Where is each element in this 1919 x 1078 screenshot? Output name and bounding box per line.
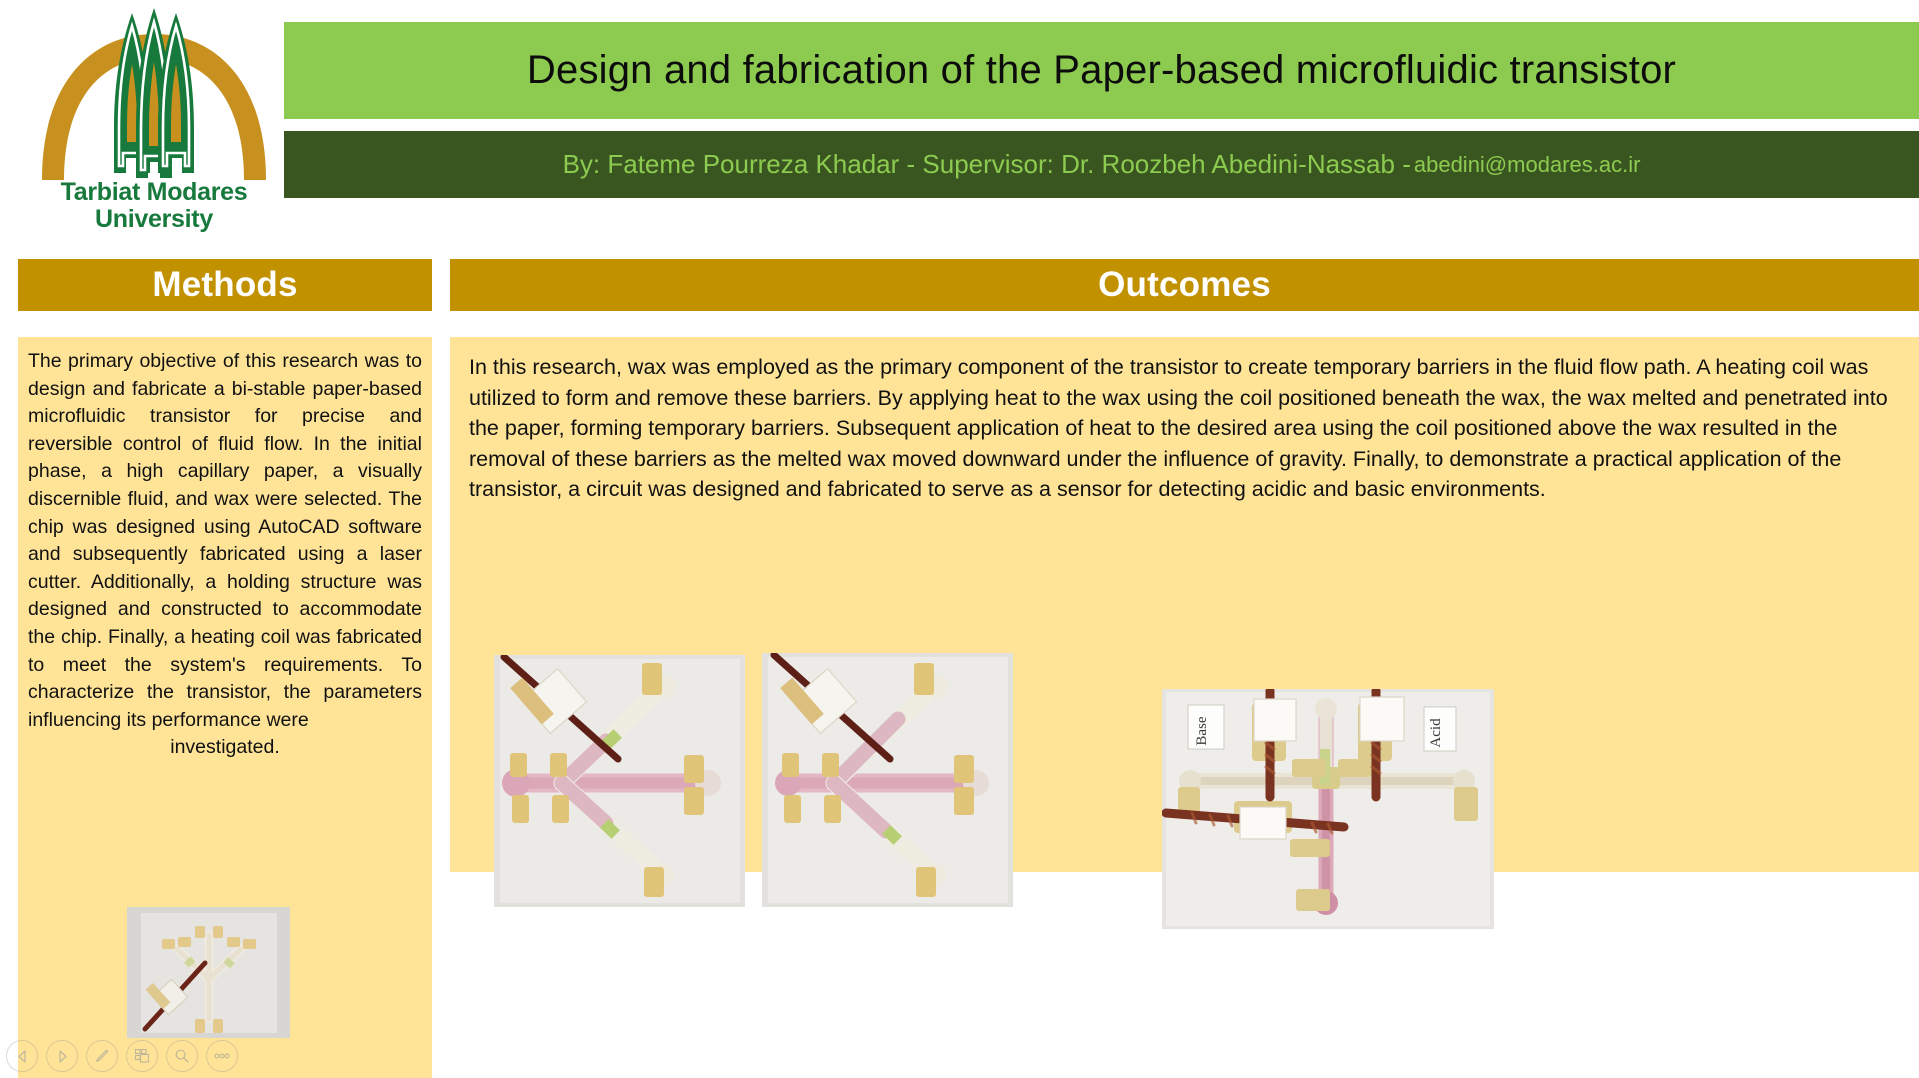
ellipsis-icon — [213, 1052, 231, 1060]
slide-header: Tarbiat Modares University Design and fa… — [0, 0, 1919, 252]
microfluidic-chip-pink-fluid-photo-icon — [494, 655, 745, 907]
outcomes-body-text: In this research, wax was employed as th… — [469, 352, 1899, 505]
outcomes-header-label: Outcomes — [1098, 265, 1271, 305]
university-name: Tarbiat Modares University — [28, 180, 280, 232]
pen-tool-button[interactable] — [86, 1040, 118, 1072]
grid-slides-icon — [134, 1048, 150, 1064]
microfluidic-chip-pink-fluid-photo-icon — [762, 653, 1013, 907]
contact-email: abedini@modares.ac.ir — [1414, 152, 1641, 178]
methods-section-header: Methods — [18, 259, 432, 311]
methods-paragraph: The primary objective of this research w… — [28, 350, 422, 731]
poster-title: Design and fabrication of the Paper-base… — [507, 48, 1696, 93]
more-options-button[interactable] — [206, 1040, 238, 1072]
base-label: Base — [1194, 716, 1210, 746]
acid-base-sensor-circuit-photo-icon: Base Acid — [1162, 689, 1494, 929]
university-logo: Tarbiat Modares University — [28, 8, 280, 238]
outcomes-chip-photo-2 — [762, 653, 1013, 907]
methods-paragraph-last-line: investigated. — [28, 734, 422, 762]
all-slides-button[interactable] — [126, 1040, 158, 1072]
poster-title-band: Design and fabrication of the Paper-base… — [284, 22, 1919, 119]
outcomes-chip-photo-1 — [494, 655, 745, 907]
dry-microfluidic-chip-photo-icon — [127, 907, 290, 1038]
next-slide-button[interactable] — [46, 1040, 78, 1072]
poster-byline-band: By: Fateme Pourreza Khadar - Supervisor:… — [284, 131, 1919, 198]
methods-chip-photo — [127, 907, 290, 1038]
acid-label: Acid — [1428, 718, 1444, 748]
triangle-right-icon — [56, 1050, 69, 1063]
poster-byline: By: Fateme Pourreza Khadar - Supervisor:… — [563, 149, 1411, 180]
slideshow-toolbar[interactable] — [6, 1040, 238, 1072]
outcomes-acid-base-sensor-photo: Base Acid — [1162, 689, 1494, 929]
zoom-button[interactable] — [166, 1040, 198, 1072]
magnifier-icon — [174, 1048, 190, 1064]
pen-icon — [94, 1048, 110, 1064]
outcomes-section-header: Outcomes — [450, 259, 1919, 311]
methods-header-label: Methods — [152, 265, 297, 305]
university-name-line1: Tarbiat Modares — [61, 178, 248, 206]
tarbiat-modares-tulip-arch-logo-icon — [28, 8, 280, 183]
methods-body-text: The primary objective of this research w… — [28, 348, 422, 762]
university-name-line2: University — [28, 207, 280, 232]
previous-slide-button[interactable] — [6, 1040, 38, 1072]
triangle-left-icon — [16, 1050, 29, 1063]
